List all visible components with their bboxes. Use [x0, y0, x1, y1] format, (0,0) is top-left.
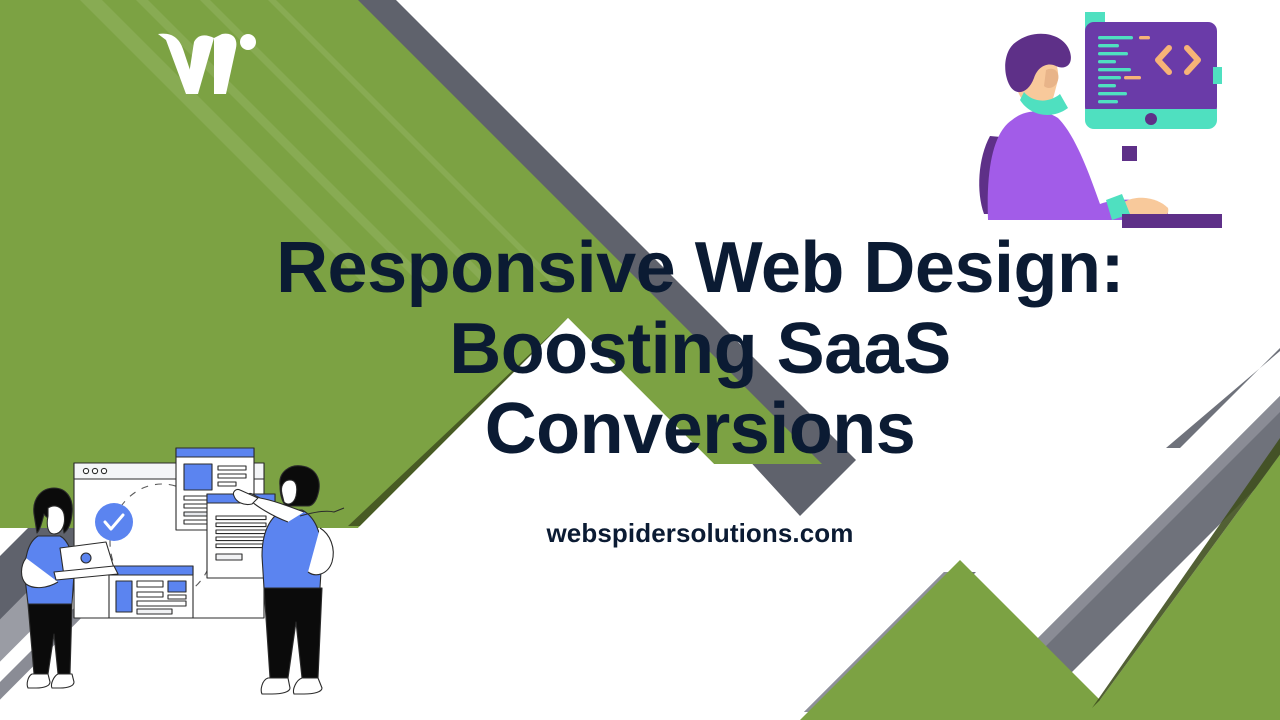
deco-teal-square-right: [1213, 67, 1222, 84]
site-url-text: webspidersolutions.com: [240, 518, 1160, 549]
page-title: Responsive Web Design: Boosting SaaS Con…: [240, 228, 1160, 470]
man-shoe-left: [261, 678, 290, 694]
desk-slab: [1122, 214, 1222, 228]
woman-face: [47, 506, 64, 534]
woman-pants: [28, 604, 72, 674]
man-shoe-right: [293, 678, 322, 694]
brand-logo-w-icon: [152, 28, 262, 100]
monitor-power-dot: [1145, 113, 1157, 125]
card-bottom: [109, 566, 193, 618]
laptop-logo: [81, 553, 91, 563]
logo-dot: [240, 34, 256, 50]
browser-dots: [83, 468, 106, 473]
woman-shoe-left: [27, 674, 50, 688]
woman-shoe-right: [51, 674, 74, 688]
developer-at-monitor-illustration: [972, 8, 1222, 233]
man-pants: [264, 588, 322, 678]
check-badge: [95, 503, 133, 541]
deco-purple-square: [1122, 146, 1137, 161]
headline-block: Responsive Web Design: Boosting SaaS Con…: [240, 228, 1160, 549]
banner-canvas: Responsive Web Design: Boosting SaaS Con…: [0, 0, 1280, 720]
